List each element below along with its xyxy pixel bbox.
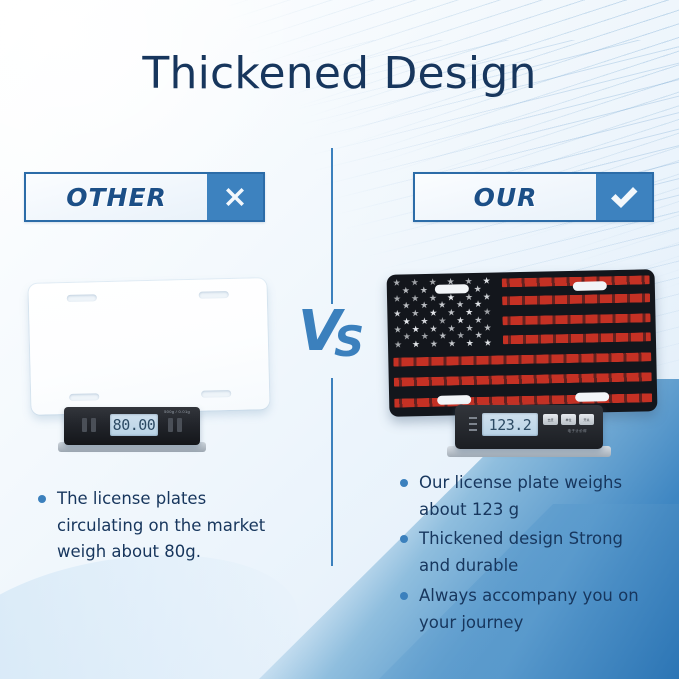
flag-star-icon: ★ xyxy=(411,309,419,318)
infographic-canvas: Thickened Design V S OTHER OUR ★★★★★★★★★… xyxy=(0,0,679,679)
scale-button-power[interactable]: 开关 xyxy=(579,414,594,425)
flag-star-icon: ★ xyxy=(465,308,473,317)
flag-star-icon: ★ xyxy=(465,293,473,302)
left-scale-display: 80.00 xyxy=(110,414,158,436)
flag-star-icon: ★ xyxy=(420,286,428,295)
right-scale-display: 123.2 xyxy=(482,413,538,436)
plate-mounting-slot xyxy=(575,392,609,402)
flag-star-icon: ★ xyxy=(411,294,419,303)
other-label: OTHER xyxy=(26,174,207,220)
bullet-dot-icon xyxy=(400,592,408,600)
cross-icon xyxy=(218,180,252,214)
flag-star-icon: ★ xyxy=(412,325,420,334)
list-item-label: The license plates circulating on the ma… xyxy=(57,486,278,566)
flag-star-icon: ★ xyxy=(421,332,429,341)
flag-star-icon: ★ xyxy=(411,278,419,287)
check-mark-box xyxy=(596,174,652,220)
our-label: OUR xyxy=(415,174,596,220)
flag-star-icon: ★ xyxy=(430,340,438,349)
page-title: Thickened Design xyxy=(0,48,679,99)
scale-brand-text: 500g / 0.01g xyxy=(164,409,190,414)
flag-star-icon: ★ xyxy=(447,324,455,333)
flag-star-icon: ★ xyxy=(403,333,411,342)
scale-vent xyxy=(82,418,87,432)
flag-star-icon: ★ xyxy=(393,279,401,288)
plate-mounting-slot xyxy=(435,284,469,294)
bullet-dot-icon xyxy=(38,495,46,503)
scale-vent xyxy=(177,418,182,432)
right-digital-scale: 123.2 去皮 单位 开关 电子计价秤 xyxy=(455,405,603,449)
plate-mounting-slot xyxy=(201,390,231,398)
flag-stripe xyxy=(503,313,651,325)
flag-star-icon: ★ xyxy=(457,331,465,340)
list-item: The license plates circulating on the ma… xyxy=(38,486,278,566)
plate-mounting-slot xyxy=(437,395,471,405)
flag-star-icon: ★ xyxy=(402,286,410,295)
cross-mark-box xyxy=(207,174,263,220)
scale-indicator-dots xyxy=(469,417,477,433)
american-flag-license-plate: ★★★★★★★★★★★★★★★★★★★★★★★★★★★★★★★★★★★★★★★★… xyxy=(387,269,658,417)
flag-star-icon: ★ xyxy=(466,339,474,348)
scale-vent xyxy=(91,418,96,432)
blank-white-license-plate xyxy=(28,278,269,415)
flag-star-icon: ★ xyxy=(456,300,464,309)
center-divider-bottom xyxy=(331,378,333,566)
our-bullet-list: Our license plate weighs about 123 g Thi… xyxy=(400,470,650,639)
flag-star-icon: ★ xyxy=(474,285,482,294)
flag-star-icon: ★ xyxy=(447,308,455,317)
other-bullet-list: The license plates circulating on the ma… xyxy=(38,486,278,573)
flag-star-icon: ★ xyxy=(429,293,437,302)
versus-s: S xyxy=(334,321,364,363)
flag-stripe xyxy=(502,293,650,305)
plate-mounting-slot xyxy=(199,291,229,299)
scale-subtext: 电子计价秤 xyxy=(568,429,588,434)
flag-star-icon: ★ xyxy=(438,316,446,325)
scale-button-tare[interactable]: 去皮 xyxy=(543,414,558,425)
bullet-dot-icon xyxy=(400,479,408,487)
our-header-bar: OUR xyxy=(413,172,654,222)
flag-star-icon: ★ xyxy=(475,331,483,340)
plate-mounting-slot xyxy=(67,294,97,302)
flag-star-icon: ★ xyxy=(482,277,490,286)
left-digital-scale: 500g / 0.01g 80.00 xyxy=(64,407,200,445)
check-icon xyxy=(607,180,641,214)
flag-star-icon: ★ xyxy=(483,308,491,317)
flag-star-icon: ★ xyxy=(393,310,401,319)
flag-star-icon: ★ xyxy=(456,316,464,325)
flag-star-icon: ★ xyxy=(448,339,456,348)
list-item-label: Always accompany you on your journey xyxy=(419,583,650,636)
flag-stripe xyxy=(394,372,651,386)
flag-stripe xyxy=(394,352,651,366)
flag-stripe xyxy=(503,332,651,344)
flag-star-icon: ★ xyxy=(412,340,420,349)
scale-button-row: 去皮 单位 开关 xyxy=(543,414,594,425)
flag-star-icon: ★ xyxy=(393,294,401,303)
flag-star-icon: ★ xyxy=(447,293,455,302)
scale-vent xyxy=(168,418,173,432)
flag-star-icon: ★ xyxy=(420,317,428,326)
flag-star-icon: ★ xyxy=(465,324,473,333)
other-header-bar: OTHER xyxy=(24,172,265,222)
list-item-label: Our license plate weighs about 123 g xyxy=(419,470,650,523)
center-divider-top xyxy=(331,148,333,304)
flag-star-icon: ★ xyxy=(402,317,410,326)
flag-star-icon: ★ xyxy=(439,332,447,341)
flag-star-icon: ★ xyxy=(402,302,410,311)
flag-star-icon: ★ xyxy=(483,292,491,301)
versus-badge: V S xyxy=(298,304,368,366)
list-item: Our license plate weighs about 123 g xyxy=(400,470,650,523)
flag-star-icon: ★ xyxy=(483,323,491,332)
scale-button-unit[interactable]: 单位 xyxy=(561,414,576,425)
plate-mounting-slot xyxy=(573,281,607,291)
list-item: Always accompany you on your journey xyxy=(400,583,650,636)
flag-star-icon: ★ xyxy=(484,339,492,348)
flag-star-icon: ★ xyxy=(394,325,402,334)
flag-star-icon: ★ xyxy=(430,324,438,333)
bullet-dot-icon xyxy=(400,535,408,543)
list-item-label: Thickened design Strong and durable xyxy=(419,526,650,579)
flag-star-icon: ★ xyxy=(474,316,482,325)
flag-star-icon: ★ xyxy=(420,301,428,310)
list-item: Thickened design Strong and durable xyxy=(400,526,650,579)
plate-mounting-slot xyxy=(69,393,99,401)
flag-star-icon: ★ xyxy=(394,341,402,350)
flag-star-icon: ★ xyxy=(429,309,437,318)
flag-star-icon: ★ xyxy=(474,300,482,309)
flag-star-icon: ★ xyxy=(438,301,446,310)
